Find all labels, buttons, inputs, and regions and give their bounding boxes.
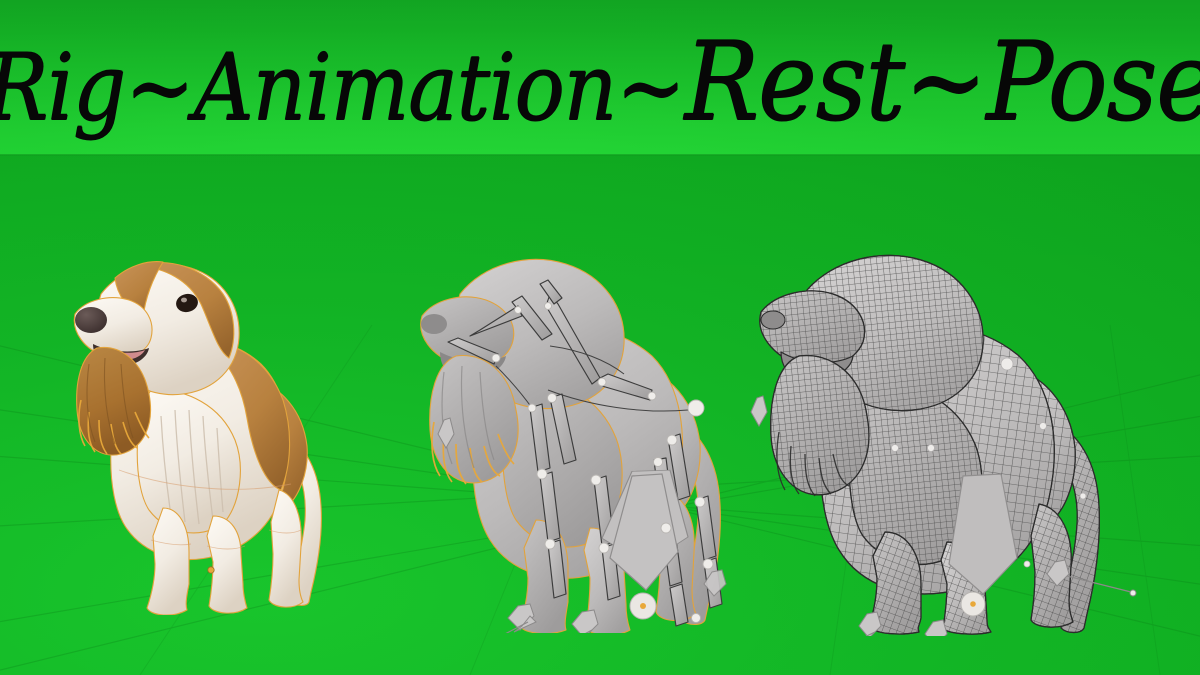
- dog-textured-body: [74, 262, 321, 615]
- model-dog-wireframe[interactable]: [735, 236, 1150, 636]
- model-dog-rigged[interactable]: [400, 238, 760, 633]
- title-banner-edge: [0, 154, 1200, 156]
- model-dog-textured[interactable]: [55, 240, 345, 615]
- screenshot-root: Rig~Animation~Rest~Pose: [0, 0, 1200, 675]
- bone-joint-marker: [208, 567, 214, 573]
- floating-bone-wireframe: [751, 396, 767, 426]
- title-banner-sheen: [0, 0, 1200, 155]
